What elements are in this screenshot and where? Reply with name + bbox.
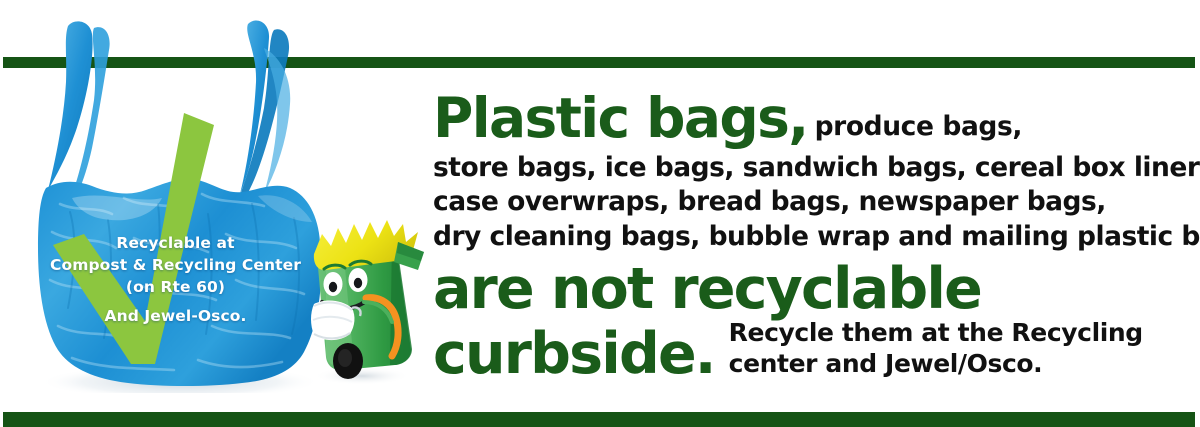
headline-primary: Plastic bags, (433, 92, 808, 146)
bag-text-line-2: Compost & Recycling Center (38, 254, 313, 276)
plastic-bag-illustration (12, 8, 342, 393)
headline-continuation: produce bags, (808, 114, 1022, 141)
bottom-green-rule (3, 412, 1195, 427)
statement-row-2: curbside. Recycle them at the Recycling … (433, 318, 1185, 383)
item-list-line-3: dry cleaning bags, bubble wrap and maili… (433, 220, 1185, 254)
bag-text-line-1: Recyclable at (38, 232, 313, 254)
recycling-bin-mascot (300, 198, 428, 386)
recycling-banner: Recyclable at Compost & Recycling Center… (0, 0, 1200, 427)
tail-note-line-2: center and Jewel/Osco. (729, 349, 1143, 380)
statement-block: are not recyclable curbside. Recycle the… (433, 261, 1185, 383)
tail-note-line-1: Recycle them at the Recycling (729, 318, 1143, 349)
tail-note: Recycle them at the Recycling center and… (715, 318, 1143, 383)
bag-printed-text: Recyclable at Compost & Recycling Center… (38, 232, 313, 327)
statement-line-2: curbside. (433, 326, 715, 383)
statement-line-1: are not recyclable (433, 261, 1185, 318)
bag-text-spacer (38, 298, 313, 305)
bag-text-line-3: (on Rte 60) (38, 276, 313, 298)
bag-text-line-4: And Jewel-Osco. (38, 305, 313, 327)
item-list-line-1: store bags, ice bags, sandwich bags, cer… (433, 151, 1185, 185)
item-list: store bags, ice bags, sandwich bags, cer… (433, 151, 1185, 254)
headline-row: Plastic bags, produce bags, (433, 92, 1185, 146)
item-list-line-2: case overwraps, bread bags, newspaper ba… (433, 185, 1185, 219)
headline-copy-block: Plastic bags, produce bags, store bags, … (433, 92, 1185, 383)
